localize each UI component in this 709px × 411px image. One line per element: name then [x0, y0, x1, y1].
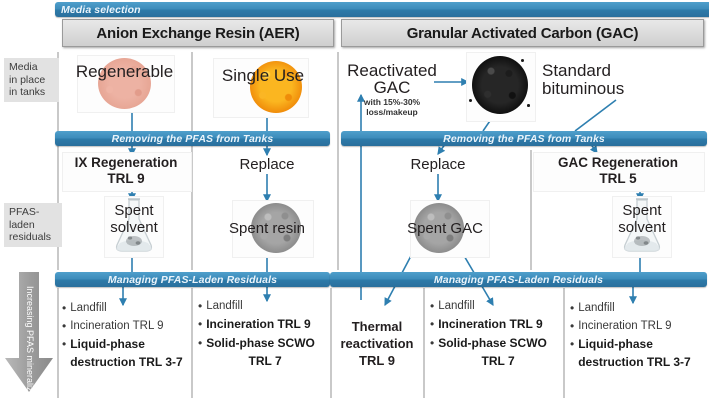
- column-divider-3: [337, 52, 339, 270]
- residual-label-spent-solvent-gac: Spent solvent: [600, 202, 684, 236]
- management-list-item-label: Incineration TRL 9: [438, 316, 558, 334]
- band-managing-residuals-right-label: Managing PFAS-Laden Residuals: [434, 274, 603, 286]
- band-removing-pfas-right: Removing the PFAS from Tanks: [341, 131, 707, 146]
- management-list-item-label: Landfill: [438, 298, 558, 315]
- bullet-icon: •: [570, 318, 574, 334]
- step-gac-regeneration: GAC Regeneration TRL 5: [533, 155, 703, 187]
- bullet-icon: •: [198, 298, 202, 314]
- band-managing-residuals-left: Managing PFAS-Laden Residuals: [55, 272, 330, 287]
- column-divider-6: [191, 288, 193, 398]
- management-list-item-label: Solid-phase SCWOTRL 7: [206, 335, 324, 369]
- media-label-reactivated-gac: Reactivated GAC: [344, 62, 440, 96]
- bullet-icon: •: [570, 336, 574, 352]
- residual-label-spent-resin: Spent resin: [221, 221, 313, 236]
- media-note-reactivated-gac: with 15%-30% loss/makeup: [348, 97, 436, 117]
- residual-label-spent-gac: Spent GAC: [400, 221, 490, 236]
- bullet-icon: •: [62, 336, 66, 352]
- bullet-icon: •: [198, 335, 202, 351]
- residual-label-spent-solvent-aer: Spent solvent: [92, 202, 176, 236]
- header-gac-label: Granular Activated Carbon (GAC): [407, 25, 639, 42]
- standard-bituminous-gac-image: [472, 56, 528, 114]
- management-thermal-reactivation: Thermal reactivation TRL 9: [332, 318, 422, 369]
- column-divider-9: [563, 288, 565, 398]
- management-list-item: •Incineration TRL 9: [570, 318, 703, 335]
- band-removing-pfas-right-label: Removing the PFAS from Tanks: [443, 133, 605, 145]
- management-list-item: •Landfill: [62, 300, 184, 317]
- management-list-item: •Landfill: [198, 298, 324, 315]
- pfas-treatment-flow-diagram: Media selection Anion Exchange Resin (AE…: [0, 0, 709, 401]
- gac-speck: [527, 104, 530, 107]
- gac-speck: [521, 59, 524, 62]
- management-list-item-label: Incineration TRL 9: [206, 316, 324, 334]
- header-aer: Anion Exchange Resin (AER): [62, 19, 334, 47]
- band-removing-pfas-left: Removing the PFAS from Tanks: [55, 131, 330, 146]
- management-list-item-label: Landfill: [70, 300, 184, 317]
- bullet-icon: •: [430, 298, 434, 314]
- management-list-col4: •Landfill•Incineration TRL 9•Solid-phase…: [430, 298, 558, 370]
- increasing-mineralization-arrow: Increasing PFAS mineralization: [3, 272, 55, 398]
- management-list-item: •Incineration TRL 9: [198, 316, 324, 334]
- media-label-standard-bituminous: Standard bituminous: [542, 62, 692, 98]
- band-managing-residuals-right: Managing PFAS-Laden Residuals: [330, 272, 707, 287]
- column-divider-8: [423, 288, 425, 398]
- management-list-item-label: Incineration TRL 9: [578, 318, 703, 335]
- management-list-item-label: Landfill: [578, 300, 703, 317]
- side-label-media-in-tanks: Media in place in tanks: [4, 58, 59, 102]
- management-list-col5: •Landfill•Incineration TRL 9•Liquid-phas…: [570, 300, 703, 371]
- management-list-col1: •Landfill•Incineration TRL 9•Liquid-phas…: [62, 300, 184, 371]
- management-list-item: •Landfill: [570, 300, 703, 317]
- bullet-icon: •: [570, 300, 574, 316]
- band-removing-pfas-left-label: Removing the PFAS from Tanks: [112, 133, 274, 145]
- gac-speck: [469, 99, 472, 102]
- band-managing-residuals-left-label: Managing PFAS-Laden Residuals: [108, 274, 277, 286]
- management-list-item: •Liquid-phasedestruction TRL 3-7: [570, 336, 703, 370]
- side-label-pfas-residuals: PFAS- laden residuals: [4, 203, 62, 247]
- bullet-icon: •: [430, 316, 434, 332]
- bullet-icon: •: [430, 335, 434, 351]
- band-media-selection: Media selection: [55, 2, 709, 17]
- header-gac: Granular Activated Carbon (GAC): [341, 19, 704, 47]
- management-list-item: •Solid-phase SCWOTRL 7: [430, 335, 558, 369]
- management-list-col2: •Landfill•Incineration TRL 9•Solid-phase…: [198, 298, 324, 370]
- bullet-icon: •: [62, 318, 66, 334]
- step-replace-resin: Replace: [217, 157, 317, 172]
- media-label-regenerable: Regenerable: [62, 62, 187, 81]
- column-divider-4: [530, 150, 532, 270]
- management-list-item: •Landfill: [430, 298, 558, 315]
- media-label-single-use: Single Use: [203, 66, 323, 85]
- management-list-item: •Solid-phase SCWOTRL 7: [198, 335, 324, 369]
- step-ix-regeneration: IX Regeneration TRL 9: [62, 155, 190, 187]
- management-list-item-label: Liquid-phasedestruction TRL 3-7: [70, 336, 184, 370]
- band-media-selection-label: Media selection: [61, 4, 141, 16]
- bullet-icon: •: [198, 316, 202, 332]
- management-list-item-label: Solid-phase SCWOTRL 7: [438, 335, 558, 369]
- management-list-item-label: Incineration TRL 9: [70, 318, 184, 335]
- header-aer-label: Anion Exchange Resin (AER): [96, 25, 299, 42]
- management-list-item-label: Landfill: [206, 298, 324, 315]
- column-divider-5: [57, 288, 59, 398]
- management-list-item: •Liquid-phasedestruction TRL 3-7: [62, 336, 184, 370]
- bullet-icon: •: [62, 300, 66, 316]
- increasing-mineralization-arrow-label: Increasing PFAS mineralization: [25, 286, 35, 411]
- management-list-item-label: Liquid-phasedestruction TRL 3-7: [578, 336, 703, 370]
- management-list-item: •Incineration TRL 9: [430, 316, 558, 334]
- management-list-item: •Incineration TRL 9: [62, 318, 184, 335]
- step-replace-gac: Replace: [388, 157, 488, 172]
